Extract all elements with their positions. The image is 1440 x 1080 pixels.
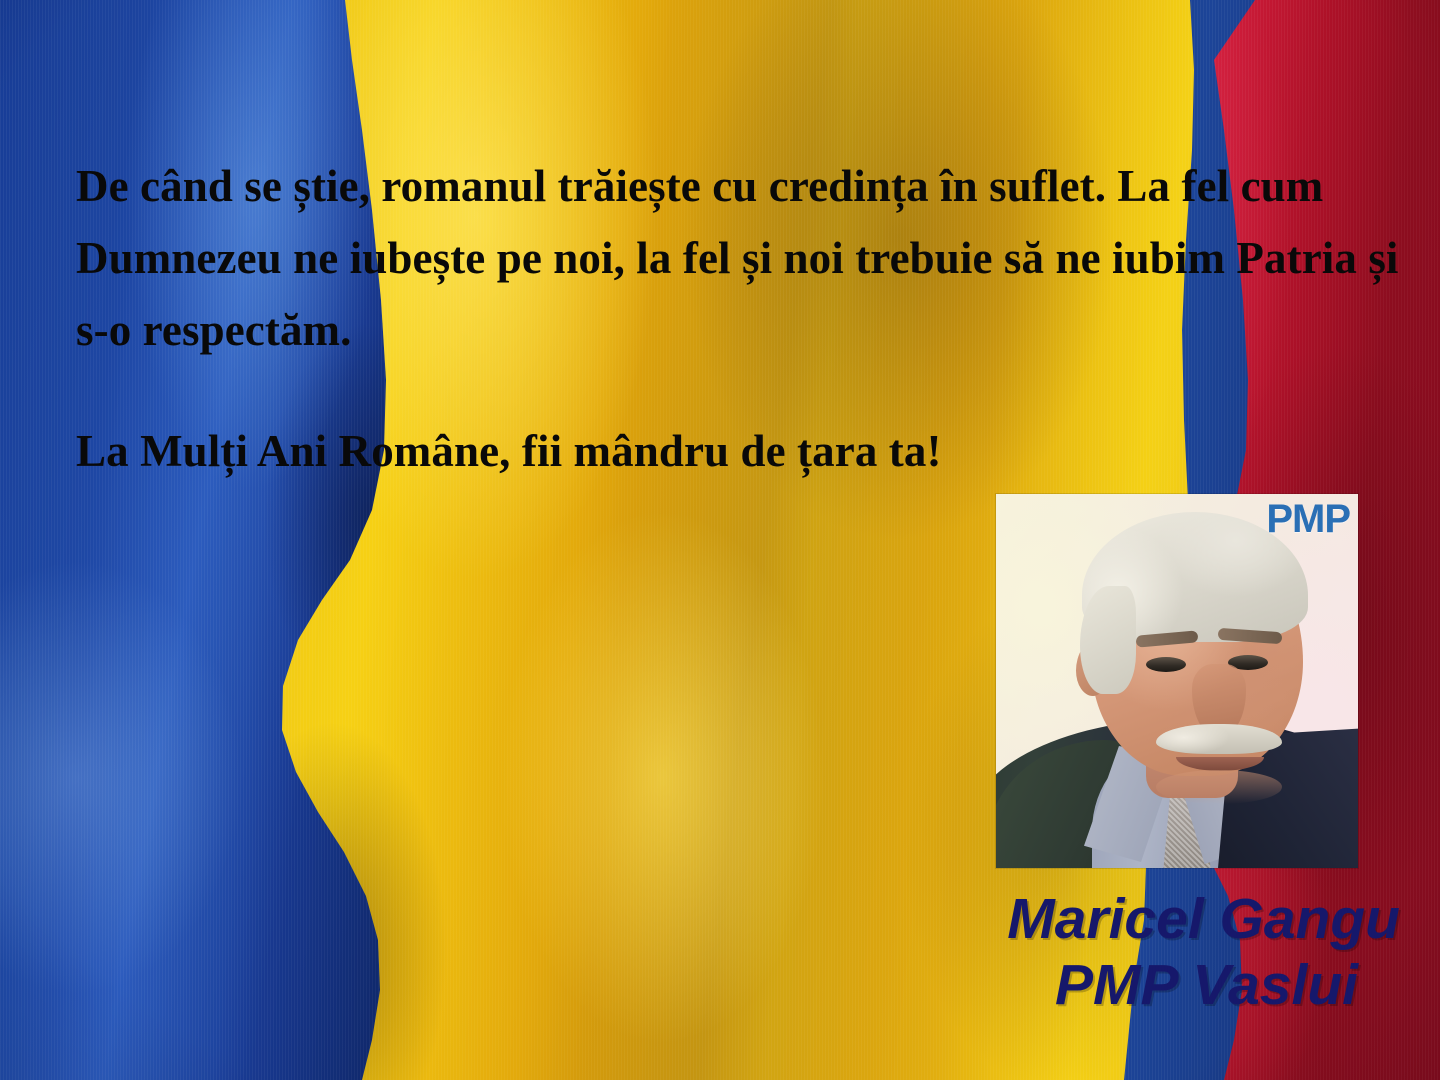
quote-paragraph-1: De când se știe, romanul trăiește cu cre… xyxy=(76,150,1412,366)
greeting-card-canvas: De când se știe, romanul trăiește cu cre… xyxy=(0,0,1440,1080)
eye-left xyxy=(1146,657,1186,672)
portrait-photo: PMP xyxy=(996,494,1358,868)
moustache xyxy=(1156,724,1282,754)
quote-block: De când se știe, romanul trăiește cu cre… xyxy=(76,150,1412,487)
signature-name: Maricel Gangu xyxy=(0,886,1400,952)
chin xyxy=(1156,770,1282,804)
quote-paragraph-2: La Mulți Ani Române, fii mândru de țara … xyxy=(76,415,1412,487)
signature-block: Maricel Gangu PMP Vaslui xyxy=(0,886,1400,1018)
hair-sideburn xyxy=(1080,586,1136,694)
signature-affiliation: PMP Vaslui xyxy=(0,952,1400,1018)
pmp-logo: PMP xyxy=(1266,498,1350,540)
